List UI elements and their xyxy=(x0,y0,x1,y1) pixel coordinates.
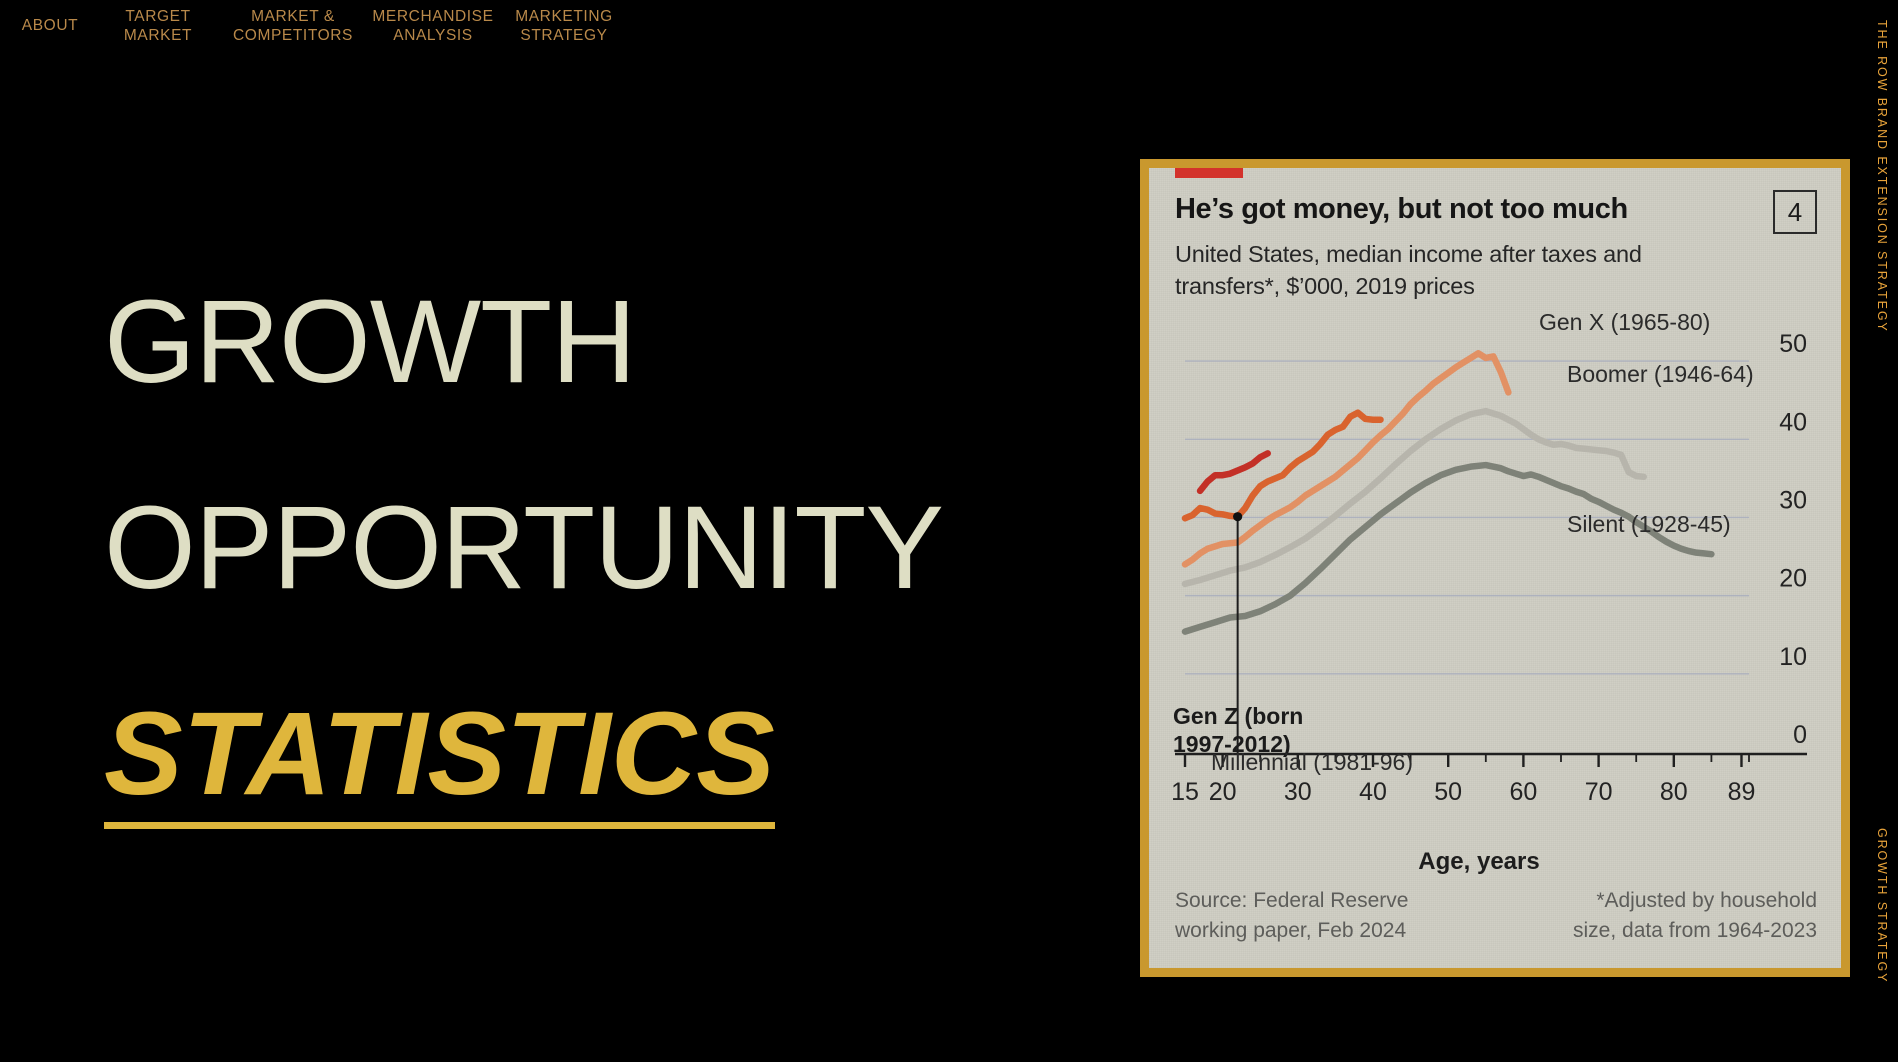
chart-series-lines xyxy=(1185,353,1711,631)
svg-text:Boomer (1946-64): Boomer (1946-64) xyxy=(1567,361,1754,387)
headline-line-growth: GROWTH xyxy=(104,280,1064,404)
svg-text:Gen Z (born: Gen Z (born xyxy=(1173,703,1303,729)
svg-text:40: 40 xyxy=(1359,778,1387,806)
nav-item-marketing-strategy[interactable]: MARKETING STRATEGY xyxy=(503,6,625,45)
chart-title: He’s got money, but not too much xyxy=(1175,192,1715,226)
svg-text:50: 50 xyxy=(1779,330,1807,358)
svg-text:Millennial (1981-96): Millennial (1981-96) xyxy=(1211,749,1413,775)
svg-text:Silent (1928-45): Silent (1928-45) xyxy=(1567,511,1731,537)
nav-item-market-competitors[interactable]: MARKET & COMPETITORS xyxy=(223,6,363,45)
headline-block: GROWTH OPPORTUNITY STATISTICS xyxy=(104,280,1064,829)
chart-card-inner: He’s got money, but not too much 4 Unite… xyxy=(1149,168,1841,968)
section-vertical-label: GROWTH STRATEGY xyxy=(1875,828,1889,983)
svg-text:80: 80 xyxy=(1660,778,1688,806)
chart-source-text: Source: Federal Reserve working paper, F… xyxy=(1175,886,1475,946)
brand-vertical-label: THE ROW BRAND EXTENSION STRATEGY xyxy=(1875,20,1889,333)
svg-text:89: 89 xyxy=(1728,778,1756,806)
svg-text:0: 0 xyxy=(1793,721,1807,749)
accent-bar-icon xyxy=(1175,168,1243,178)
chart-number-badge: 4 xyxy=(1773,190,1817,234)
top-navigation: ABOUT TARGET MARKET MARKET & COMPETITORS… xyxy=(0,6,700,66)
chart-subtitle: United States, median income after taxes… xyxy=(1175,238,1715,302)
chart-x-axis-title: Age, years xyxy=(1149,848,1809,876)
headline-line-opportunity: OPPORTUNITY xyxy=(104,486,1064,610)
chart-plot-area: 01020304050 152030405060708089 Gen Z (bo… xyxy=(1149,304,1841,834)
nav-item-about[interactable]: ABOUT xyxy=(10,6,90,36)
svg-text:40: 40 xyxy=(1779,408,1807,436)
chart-y-tick-labels: 01020304050 xyxy=(1779,330,1807,749)
svg-text:60: 60 xyxy=(1509,778,1537,806)
headline-emphasis-statistics: STATISTICS xyxy=(104,692,775,829)
svg-text:30: 30 xyxy=(1779,486,1807,514)
svg-text:20: 20 xyxy=(1779,565,1807,593)
chart-card: He’s got money, but not too much 4 Unite… xyxy=(1140,159,1850,977)
nav-item-merchandise-analysis[interactable]: MERCHANDISE ANALYSIS xyxy=(363,6,503,45)
svg-text:50: 50 xyxy=(1434,778,1462,806)
chart-footer: Source: Federal Reserve working paper, F… xyxy=(1175,886,1817,946)
nav-item-target-market[interactable]: TARGET MARKET xyxy=(103,6,213,45)
svg-text:15: 15 xyxy=(1171,778,1199,806)
svg-text:20: 20 xyxy=(1209,778,1237,806)
svg-text:70: 70 xyxy=(1585,778,1613,806)
svg-text:30: 30 xyxy=(1284,778,1312,806)
chart-plot-svg: 01020304050 152030405060708089 Gen Z (bo… xyxy=(1149,304,1841,834)
chart-note-text: *Adjusted by household size, data from 1… xyxy=(1517,886,1817,946)
svg-text:10: 10 xyxy=(1779,643,1807,671)
svg-text:Gen X (1965-80): Gen X (1965-80) xyxy=(1539,309,1710,335)
